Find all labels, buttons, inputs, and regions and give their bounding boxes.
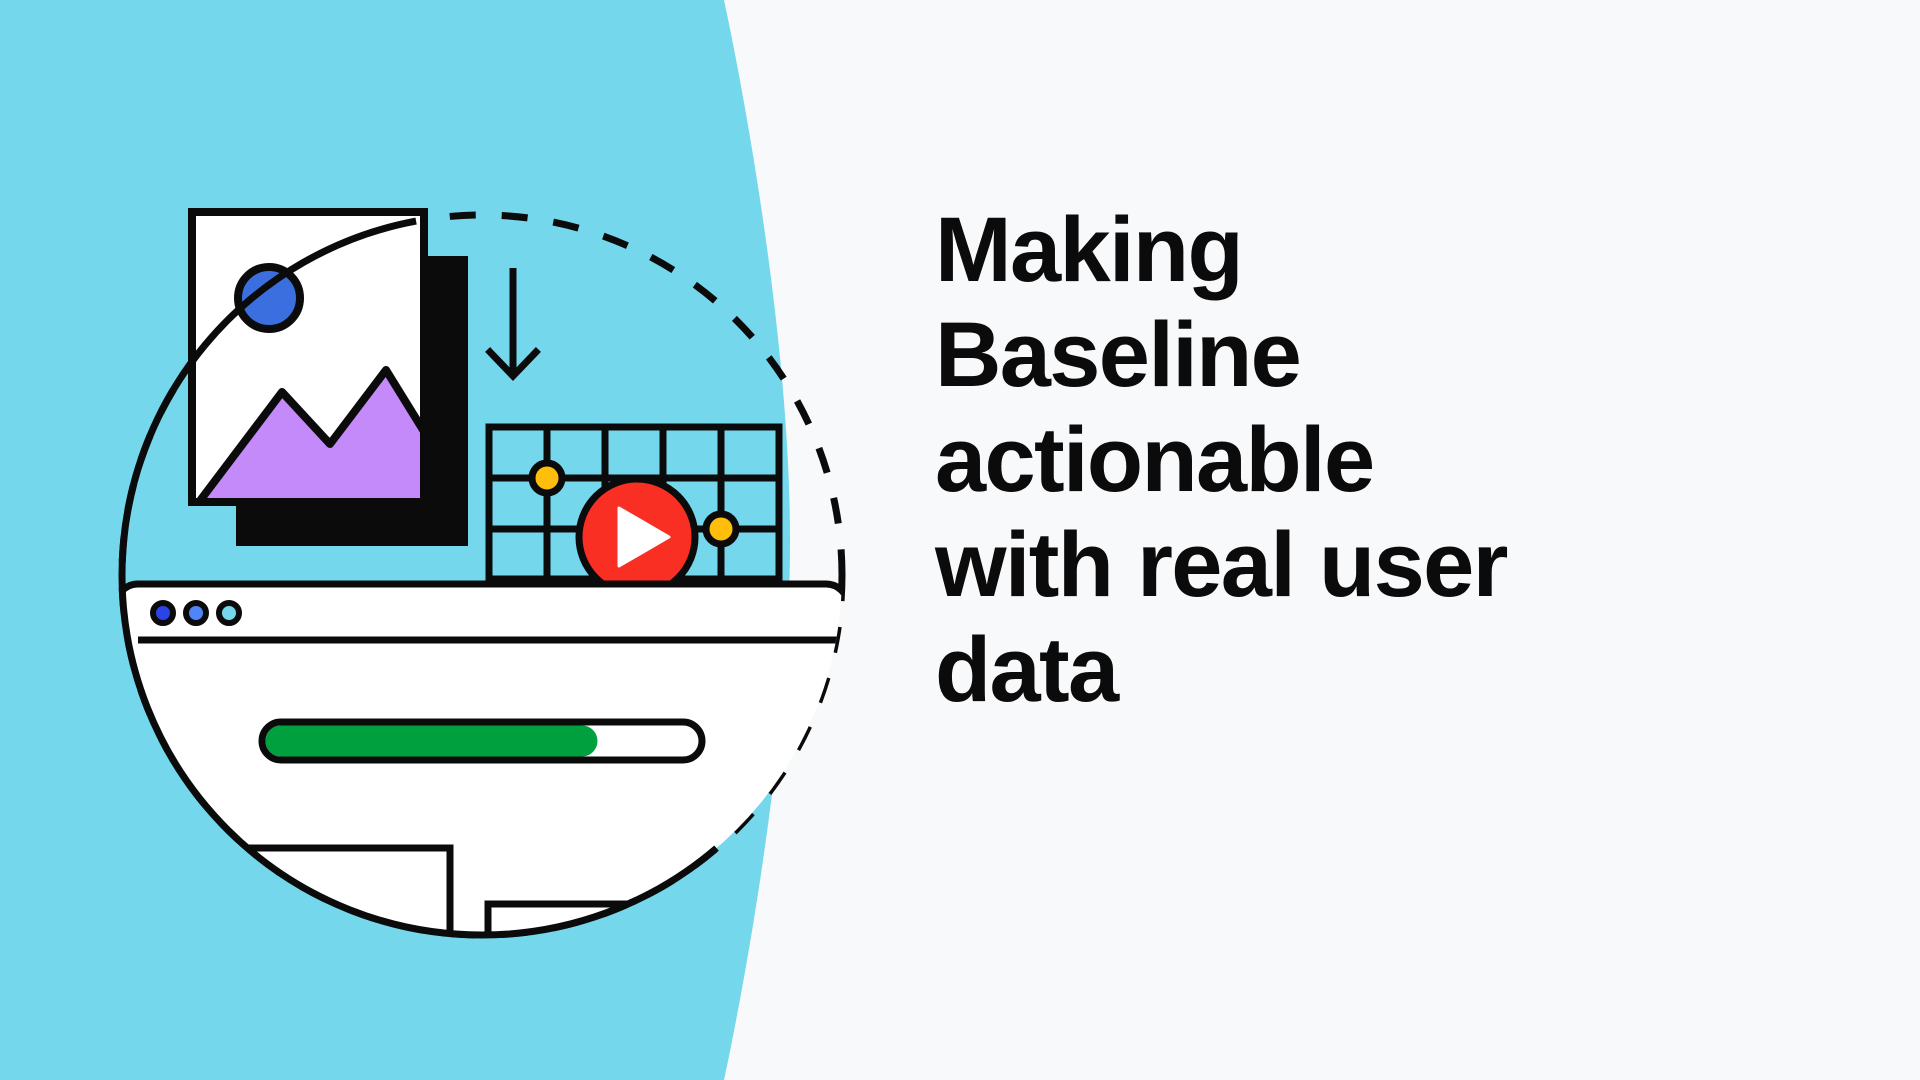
- headline-line-3: actionable: [935, 409, 1373, 511]
- headline-line-2: Baseline: [935, 304, 1300, 406]
- window-dot-mid-blue: [186, 603, 206, 623]
- progress-fill: [266, 726, 598, 757]
- headline-line-4: with real user: [935, 514, 1507, 616]
- amber-dot-right: [706, 514, 736, 544]
- video-thumbnail-grid: [489, 427, 779, 595]
- headline-text: Making Baseline actionable with real use…: [935, 198, 1785, 722]
- image-placeholder-card: [192, 212, 470, 546]
- illustration-group: [0, 0, 880, 1080]
- headline-line-1: Making: [935, 199, 1242, 301]
- window-dot-cyan: [219, 603, 239, 623]
- content-block-left: [200, 848, 450, 938]
- downward-arrow: [490, 268, 536, 376]
- content-block-right: [488, 904, 738, 994]
- page-title: Making Baseline actionable with real use…: [935, 198, 1785, 722]
- loading-progress-bar: [262, 722, 702, 760]
- headline-line-5: data: [935, 619, 1118, 721]
- amber-dot-left: [532, 463, 562, 493]
- window-dot-blue: [153, 603, 173, 623]
- hero-banner: Making Baseline actionable with real use…: [0, 0, 1920, 1080]
